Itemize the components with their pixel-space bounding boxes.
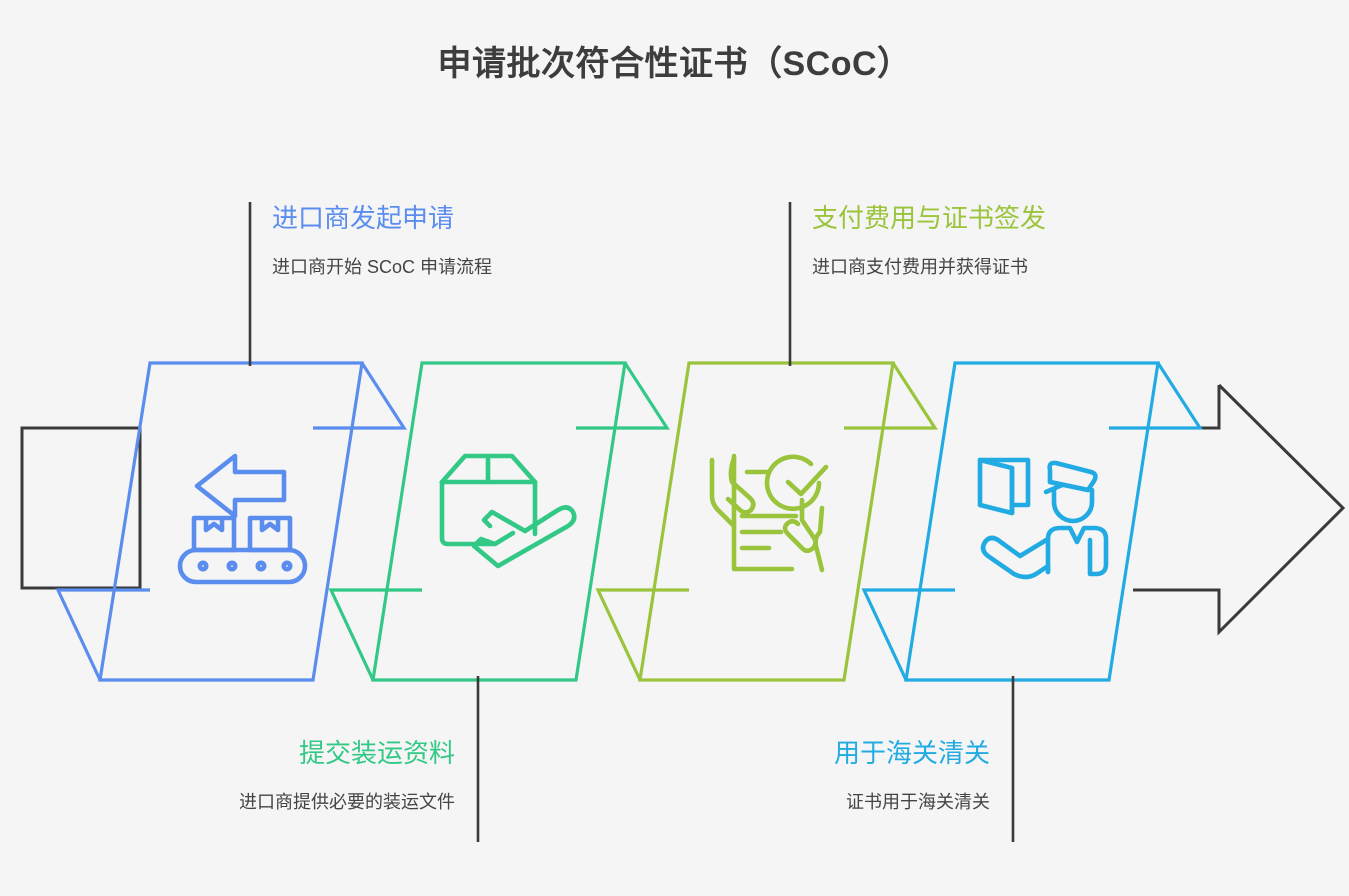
step-label-4[interactable]: 用于海关清关 证书用于海关清关 — [540, 738, 990, 815]
step-description-1: 进口商开始 SCoC 申请流程 — [272, 256, 492, 279]
step-label-3[interactable]: 支付费用与证书签发 进口商支付费用并获得证书 — [812, 203, 1046, 280]
ribbon-body-step-2 — [373, 363, 625, 680]
step-label-2[interactable]: 提交装运资料 进口商提供必要的装运文件 — [0, 738, 455, 815]
ribbon-body-step-4 — [906, 363, 1158, 680]
step-title-1: 进口商发起申请 — [272, 203, 492, 234]
step-title-3: 支付费用与证书签发 — [812, 203, 1046, 234]
step-description-2: 进口商提供必要的装运文件 — [0, 791, 455, 814]
step-description-4: 证书用于海关清关 — [540, 791, 990, 814]
ribbon-fold-bottom-step-1 — [58, 590, 150, 680]
step-title-2: 提交装运资料 — [0, 738, 455, 769]
flow-start-tail — [22, 428, 140, 588]
flow-end-arrow-icon — [1128, 385, 1343, 632]
step-title-4: 用于海关清关 — [540, 738, 990, 769]
ribbon-body-step-3 — [640, 363, 893, 680]
infographic-canvas: 申请批次符合性证书（SCoC） — [0, 0, 1349, 896]
step-description-3: 进口商支付费用并获得证书 — [812, 256, 1046, 279]
conveyor-belt-arrow-icon — [180, 456, 305, 582]
ribbon-step-4[interactable] — [864, 363, 1200, 680]
customs-officer-passport-icon — [980, 460, 1106, 577]
package-airplane-icon — [442, 456, 574, 566]
step-label-1[interactable]: 进口商发起申请 进口商开始 SCoC 申请流程 — [272, 203, 492, 280]
certificate-hands-check-icon — [712, 456, 826, 570]
